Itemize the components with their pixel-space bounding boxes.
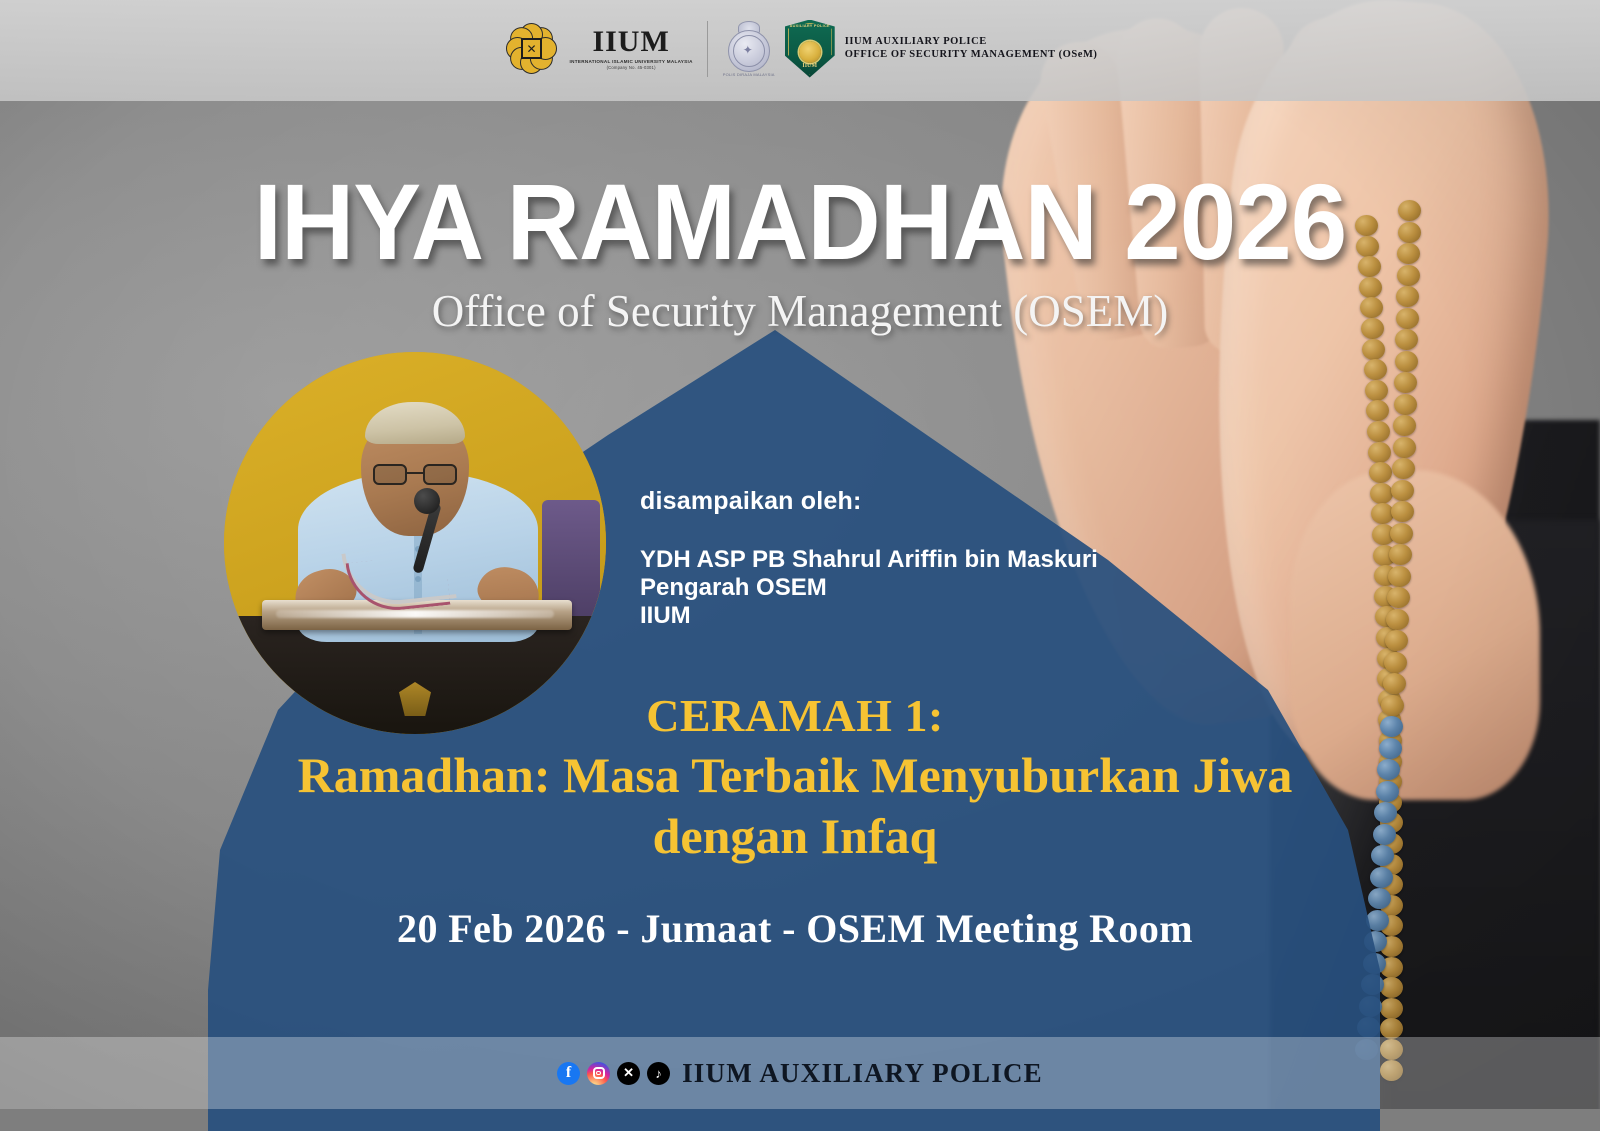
iium-logo-core: ✕: [521, 38, 542, 59]
bottom-strip-arch: [208, 1109, 1380, 1131]
iium-wordmark: IIUM INTERNATIONAL ISLAMIC UNIVERSITY MA…: [570, 27, 693, 70]
royal-malaysia-police-crest-icon: ✦ POLIS DIRAJA MALAYSIA: [722, 20, 776, 78]
facebook-glyph: f: [566, 1064, 571, 1082]
glasses-lens-right: [423, 464, 457, 485]
microphone-head: [414, 488, 440, 514]
session-event-line: 20 Feb 2026 - Jumaat - OSEM Meeting Room: [215, 905, 1375, 952]
logo-row: ✕ IIUM INTERNATIONAL ISLAMIC UNIVERSITY …: [503, 20, 1098, 78]
glasses-lens-left: [373, 464, 407, 485]
tiktok-icon[interactable]: ♪: [647, 1062, 670, 1085]
speaker-name: YDH ASP PB Shahrul Ariffin bin Maskuri: [640, 546, 1098, 574]
instagram-icon[interactable]: [587, 1062, 610, 1085]
speaker-role: Pengarah OSEM: [640, 574, 1098, 602]
iium-wordmark-text: IIUM: [592, 27, 669, 57]
header-org-line-1: IIUM AUXILIARY POLICE: [845, 36, 1098, 48]
page-subtitle: Office of Security Management (OSEM): [0, 285, 1600, 337]
crest-star: ✦: [743, 44, 753, 56]
speaker-photo: [224, 352, 606, 734]
iium-subline-1: INTERNATIONAL ISLAMIC UNIVERSITY MALAYSI…: [570, 59, 693, 64]
crest-caption: POLIS DIRAJA MALAYSIA: [722, 72, 776, 77]
session-title-line-1: Ramadhan: Masa Terbaik Menyuburkan Jiwa: [215, 748, 1375, 803]
speaker-details: disampaikan oleh: YDH ASP PB Shahrul Ari…: [640, 487, 1098, 629]
speaker-organisation: IIUM: [640, 602, 1098, 630]
poster-root: ✕ IIUM INTERNATIONAL ISLAMIC UNIVERSITY …: [0, 0, 1600, 1131]
header-org-text: IIUM AUXILIARY POLICE OFFICE OF SECURITY…: [845, 36, 1098, 61]
iium-subline-2: (Company No. 45-0301): [607, 65, 656, 70]
facebook-icon[interactable]: f: [557, 1062, 580, 1085]
tiktok-glyph: ♪: [655, 1066, 662, 1081]
instagram-lens: [596, 1071, 601, 1076]
speaker-glasses: [373, 464, 457, 486]
photo-podium-light: [276, 610, 554, 618]
header-divider: [707, 21, 708, 77]
shield-top-text: AUXILIARY POLICE: [785, 24, 835, 28]
speaker-intro-label: disampaikan oleh:: [640, 487, 1098, 516]
x-glyph: ✕: [623, 1065, 634, 1081]
auxiliary-police-shield-icon: AUXILIARY POLICE IIUM: [785, 20, 835, 78]
footer-handle: IIUM AUXILIARY POLICE: [682, 1058, 1043, 1089]
header-band: ✕ IIUM INTERNATIONAL ISLAMIC UNIVERSITY …: [0, 0, 1600, 101]
page-title: IHYA RAMADHAN 2026: [48, 168, 1552, 276]
instagram-frame: [593, 1067, 605, 1079]
shield-bottom-text: IIUM: [785, 63, 835, 69]
session-title-line-2: dengan Infaq: [215, 809, 1375, 864]
iium-flower-logo-icon: ✕: [503, 20, 561, 78]
shield-emblem: [799, 41, 821, 63]
session-label: CERAMAH 1:: [215, 690, 1375, 742]
iium-logo: ✕ IIUM INTERNATIONAL ISLAMIC UNIVERSITY …: [503, 20, 693, 78]
header-org-line-2: OFFICE OF SECURITY MANAGEMENT (OSeM): [845, 49, 1098, 61]
footer-band: f ✕ ♪ IIUM AUXILIARY POLICE: [0, 1037, 1600, 1109]
glasses-bridge: [407, 472, 423, 474]
session-block: CERAMAH 1: Ramadhan: Masa Terbaik Menyub…: [215, 690, 1375, 864]
x-twitter-icon[interactable]: ✕: [617, 1062, 640, 1085]
